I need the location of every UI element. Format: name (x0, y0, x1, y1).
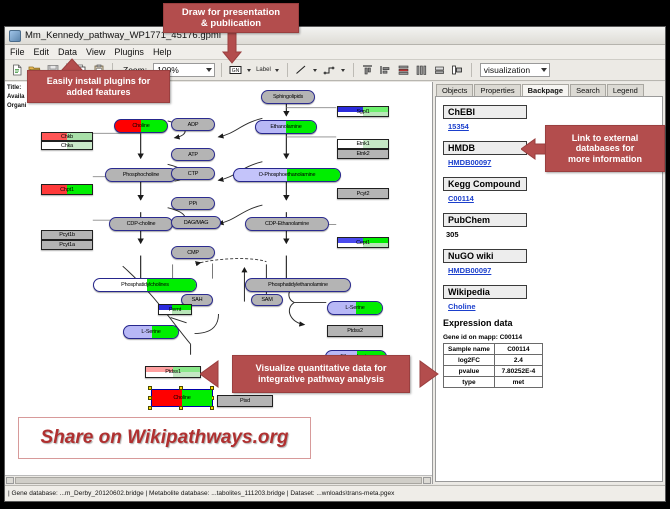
gene-label: Pcyt1b (59, 232, 75, 238)
node-label: CMP (187, 250, 199, 256)
node-label: CDP-Ethanolamine (265, 221, 309, 227)
gene-pcyt2[interactable]: Pcyt2 (337, 188, 389, 199)
tab-search[interactable]: Search (570, 84, 606, 96)
node-label: Choline (173, 395, 190, 401)
meta-organism: Organi (7, 103, 26, 109)
expression-data-title: Expression data (443, 318, 662, 328)
node-cdp-choline[interactable]: CDP-choline (109, 217, 173, 231)
gene-ptdss1[interactable]: Ptdss1 (145, 366, 201, 378)
distribute-vertical-icon[interactable] (396, 63, 411, 78)
gene-label: Pcyt2 (357, 191, 370, 197)
menu-bar: File Edit Data View Plugins Help (5, 45, 665, 60)
menu-edit[interactable]: Edit (34, 47, 50, 57)
scroll-right-arrow[interactable] (423, 477, 431, 484)
node-cmp[interactable]: CMP (171, 246, 215, 259)
node-label: Choline (132, 123, 149, 129)
align-left-icon[interactable] (378, 63, 393, 78)
svg-text:GN: GN (232, 68, 240, 74)
node-label: L-Serine (141, 329, 160, 335)
expression-data-table: Sample name C00114 log2FC 2.4 pvalue 7.8… (443, 343, 543, 388)
backpage-header-wikipedia: Wikipedia (443, 285, 527, 299)
meta-title: Title: (7, 85, 21, 91)
cell-label: Sample name (444, 344, 495, 355)
new-file-icon[interactable] (9, 63, 24, 78)
gene-label: Pisd (240, 398, 250, 404)
node-ppi[interactable]: PPi (171, 197, 215, 210)
callout-visualize-quantitative-data: Visualize quantitative data for integrat… (232, 355, 410, 393)
callout-visualize-left-arrow (200, 358, 234, 390)
cell-label: log2FC (444, 355, 495, 366)
node-phosphatidylcholines[interactable]: Phosphatidylcholines (93, 278, 197, 292)
callout-easily-install-plugins: Easily install plugins for added feature… (27, 70, 170, 103)
table-row: pvalue 7.80252E-4 (444, 366, 543, 377)
tab-properties[interactable]: Properties (474, 84, 520, 96)
callout-share-on-wikipathways: Share on Wikipathways.org (18, 417, 311, 459)
cell-value: met (494, 377, 542, 388)
toolbar-separator (353, 63, 354, 77)
node-ethanolamine-top[interactable]: Ethanolamine (255, 120, 317, 134)
node-label: SAM (261, 297, 272, 303)
chevron-down-icon[interactable] (247, 69, 251, 72)
node-phosphatidylethanolamine[interactable]: Phosphatidylethanolamine (245, 278, 351, 292)
gene-label: Pemt (169, 307, 181, 313)
order-icon[interactable] (450, 63, 465, 78)
app-icon (9, 30, 21, 42)
node-dag-mag[interactable]: DAG/MAG (171, 216, 221, 229)
node-choline-top[interactable]: Choline (114, 119, 168, 133)
node-label: ADP (188, 122, 199, 128)
chevron-down-icon[interactable] (275, 69, 279, 72)
node-label: Sphingolipids (273, 94, 303, 100)
node-label: O-Phosphoethanolamine (259, 172, 316, 178)
gene-id-on-mapp: Gene id on mapp: C00114 (443, 334, 662, 341)
node-phosphocholine[interactable]: Phosphocholine (105, 168, 177, 182)
callout-draw-for-presentation: Draw for presentation & publication (163, 3, 299, 33)
gene-label: Etnk2 (356, 151, 369, 157)
gene-ptdss2[interactable]: Ptdss2 (327, 325, 383, 337)
gene-pemt[interactable]: Pemt (158, 304, 192, 315)
backpage-header-chebi: ChEBI (443, 105, 527, 119)
cell-value: C00114 (494, 344, 542, 355)
node-atp[interactable]: ATP (171, 148, 215, 161)
gene-pcyt1a[interactable]: Pcyt1a (41, 240, 93, 250)
node-l-serine-left[interactable]: L-Serine (123, 325, 179, 339)
cell-value: 2.4 (494, 355, 542, 366)
gene-label: Ptdss2 (347, 328, 363, 334)
gene-label: Sgpl1 (356, 109, 369, 115)
backpage-link-nugo[interactable]: HMDB00097 (448, 266, 662, 275)
window-title-bar: Mm_Kennedy_pathway_WP1771_45176.gpml (5, 27, 665, 45)
gene-label: Etnk1 (356, 141, 369, 147)
status-bar: | Gene database: ...m_Derby_20120602.bri… (5, 485, 665, 501)
menu-plugins[interactable]: Plugins (114, 47, 144, 57)
node-label: ATP (188, 152, 198, 158)
gene-label: Chkb (61, 134, 73, 140)
node-label: Phosphatidylcholines (121, 282, 169, 288)
backpage-header-nugo: NuGO wiki (443, 249, 527, 263)
node-ctp[interactable]: CTP (171, 167, 215, 180)
gene-sgpl1[interactable]: Sgpl1 (337, 106, 389, 117)
tab-legend[interactable]: Legend (607, 84, 644, 96)
gene-label: Ptdss1 (165, 369, 181, 375)
distribute-horizontal-icon[interactable] (414, 63, 429, 78)
callout-visualize-right-arrow (408, 358, 442, 390)
node-label: SAH (192, 297, 203, 303)
node-label: Ethanolamine (270, 124, 301, 130)
node-l-serine-right[interactable]: L-Serine (327, 301, 383, 315)
node-label: DAG/MAG (184, 220, 209, 226)
backpage-header-pubchem: PubChem (443, 213, 527, 227)
canvas-hscrollbar[interactable] (5, 475, 432, 484)
node-label: Phosphocholine (123, 172, 159, 178)
visualization-value: visualization (484, 65, 530, 75)
backpage-header-hmdb: HMDB (443, 141, 527, 155)
stack-icon[interactable] (432, 63, 447, 78)
backpage-value-pubchem: 305 (446, 230, 662, 239)
chevron-down-icon (206, 68, 212, 72)
gene-label: Pcyt1a (59, 242, 75, 248)
datanode-icon[interactable]: GN (228, 63, 243, 78)
menu-data[interactable]: Data (58, 47, 77, 57)
backpage-link-wikipedia[interactable]: Choline (448, 302, 662, 311)
chevron-down-icon (541, 68, 547, 72)
node-label: Phosphatidylethanolamine (268, 282, 328, 288)
backpage-link-kegg[interactable]: C00114 (448, 194, 662, 203)
menu-file[interactable]: File (10, 47, 25, 57)
cell-label: pvalue (444, 366, 495, 377)
node-o-phosphoethanolamine[interactable]: O-Phosphoethanolamine (233, 168, 341, 182)
gene-etnk2[interactable]: Etnk2 (337, 149, 389, 159)
node-choline-selected[interactable]: Choline (151, 389, 213, 407)
node-adp[interactable]: ADP (171, 118, 215, 131)
table-row: Sample name C00114 (444, 344, 543, 355)
connector-icon[interactable] (322, 63, 337, 78)
gene-label: Chpt1 (60, 187, 74, 193)
gene-chka[interactable]: Chka (41, 141, 93, 150)
toolbar-separator (471, 63, 472, 77)
gene-pisd[interactable]: Pisd (217, 395, 273, 407)
node-label: CDP-choline (127, 221, 156, 227)
backpage-header-kegg: Kegg Compound (443, 177, 527, 191)
toolbar-separator (221, 63, 222, 77)
screenshot-root: Mm_Kennedy_pathway_WP1771_45176.gpml Fil… (0, 0, 670, 509)
node-label: PPi (189, 201, 197, 207)
gene-etnk1[interactable]: Etnk1 (337, 139, 389, 149)
cell-value: 7.80252E-4 (494, 366, 542, 377)
menu-view[interactable]: View (86, 47, 105, 57)
status-text: | Gene database: ...m_Derby_20120602.bri… (8, 490, 394, 497)
table-row: type met (444, 377, 543, 388)
table-row: log2FC 2.4 (444, 355, 543, 366)
share-text: Share on Wikipathways.org (41, 427, 289, 449)
gene-pcyt1b[interactable]: Pcyt1b (41, 230, 93, 240)
cell-label: type (444, 377, 495, 388)
visualization-combo[interactable]: visualization (480, 63, 550, 77)
align-top-icon[interactable] (360, 63, 375, 78)
scroll-thumb[interactable] (15, 477, 422, 484)
gene-chkb[interactable]: Chkb (41, 132, 93, 141)
node-cdp-ethanolamine[interactable]: CDP-Ethanolamine (245, 217, 329, 231)
tab-objects[interactable]: Objects (436, 84, 473, 96)
meta-available: Availa (7, 94, 24, 100)
label-dropdown-text[interactable]: Label (256, 67, 271, 73)
side-panel-tabs: Objects Properties Backpage Search Legen… (433, 82, 665, 96)
gene-chpt1[interactable]: Chpt1 (41, 184, 93, 195)
toolbar-separator (287, 63, 288, 77)
menu-help[interactable]: Help (153, 47, 172, 57)
gene-cept1[interactable]: Cept1 (337, 237, 389, 248)
callout-draw-arrow (221, 32, 243, 64)
chevron-down-icon[interactable] (313, 69, 317, 72)
chevron-down-icon[interactable] (341, 69, 345, 72)
callout-link-to-external-databases: Link to external databases for more info… (545, 125, 665, 172)
scroll-left-arrow[interactable] (6, 477, 14, 484)
node-sphingolipids[interactable]: Sphingolipids (261, 90, 315, 104)
gene-label: Cept1 (356, 240, 370, 246)
node-label: L-Serine (345, 305, 364, 311)
node-label: CTP (188, 171, 198, 177)
gene-label: Chka (61, 143, 73, 149)
node-sam[interactable]: SAM (251, 294, 283, 306)
line-icon[interactable] (294, 63, 309, 78)
